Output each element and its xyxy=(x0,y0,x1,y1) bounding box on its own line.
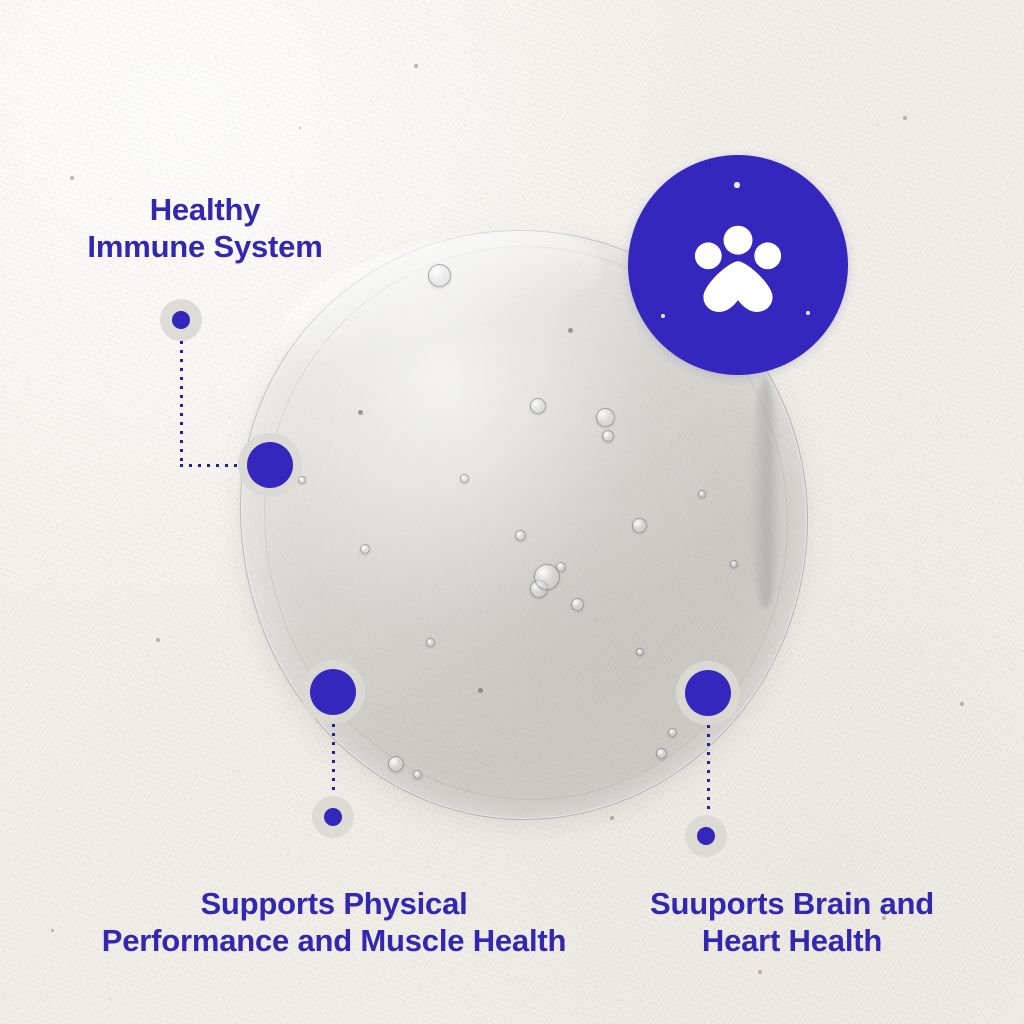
gel-bubble xyxy=(460,474,469,483)
background-speck xyxy=(70,176,74,180)
connector-anchor-brain-core xyxy=(685,670,731,716)
badge-speck xyxy=(661,314,665,318)
connector-line-brain xyxy=(707,725,710,815)
gel-bubble xyxy=(730,560,738,568)
connector-anchor-physical[interactable] xyxy=(301,660,365,724)
connector-endpoint-immune-core xyxy=(172,311,190,329)
gel-bubble xyxy=(515,530,526,541)
badge-speck xyxy=(734,182,739,187)
background-speck xyxy=(414,64,417,67)
paw-print-icon xyxy=(684,211,792,319)
gel-bubble xyxy=(571,598,584,611)
gel-bubble xyxy=(360,544,370,554)
infographic-canvas: Healthy Immune System Supports Physical … xyxy=(0,0,1024,1024)
connector-anchor-brain[interactable] xyxy=(676,661,740,725)
gel-bubble xyxy=(602,430,614,442)
connector-endpoint-brain[interactable] xyxy=(685,815,727,857)
connector-line-immune-vertical xyxy=(180,341,183,465)
background-speck xyxy=(758,970,762,974)
benefit-label-immune: Healthy Immune System xyxy=(40,192,370,265)
badge-speck xyxy=(806,311,810,315)
connector-endpoint-immune[interactable] xyxy=(160,299,202,341)
connector-endpoint-physical[interactable] xyxy=(312,796,354,838)
gel-bubble xyxy=(668,728,677,737)
gel-bubble xyxy=(534,564,560,590)
gel-bubble xyxy=(698,490,706,498)
gel-bubble xyxy=(656,748,667,759)
background-speck xyxy=(156,638,160,642)
gel-bubble xyxy=(636,648,644,656)
connector-anchor-immune[interactable] xyxy=(238,433,302,497)
gel-bubble xyxy=(530,398,546,414)
gel-bubble xyxy=(568,328,573,333)
gel-bubble xyxy=(428,264,451,287)
connector-endpoint-physical-core xyxy=(324,808,342,826)
benefit-label-brain: Suuports Brain and Heart Health xyxy=(608,886,976,959)
connector-line-physical xyxy=(332,724,335,796)
gel-bubble xyxy=(358,410,363,415)
gel-bubble xyxy=(478,688,483,693)
gel-bubble xyxy=(596,408,615,427)
connector-anchor-physical-core xyxy=(310,669,356,715)
connector-endpoint-brain-core xyxy=(697,827,715,845)
background-speck xyxy=(903,116,907,120)
benefit-label-physical: Supports Physical Performance and Muscle… xyxy=(50,886,618,959)
gel-bubble xyxy=(388,756,404,772)
paw-badge[interactable] xyxy=(628,155,848,375)
background-speck xyxy=(960,702,963,705)
background-speck xyxy=(299,127,302,130)
gel-bubble xyxy=(632,518,647,533)
gel-bubble xyxy=(426,638,435,647)
gel-bubble xyxy=(413,770,422,779)
connector-line-immune-horizontal xyxy=(180,464,237,467)
connector-anchor-immune-core xyxy=(247,442,293,488)
